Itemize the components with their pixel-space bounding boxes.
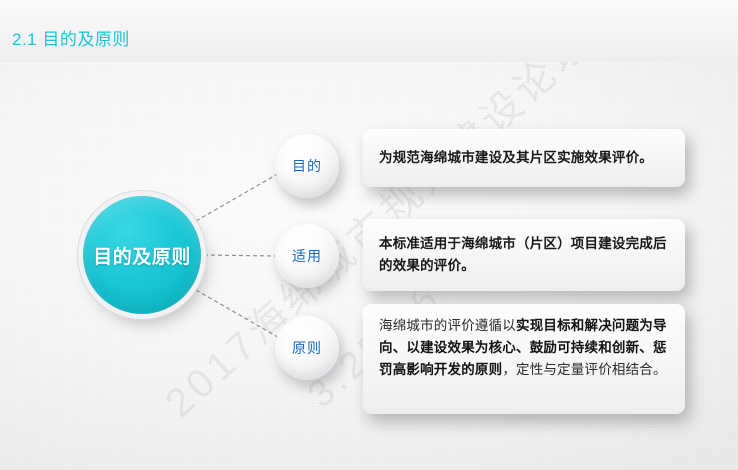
content-box-purpose: 为规范海绵城市建设及其片区实施效果评价。 [363,129,685,187]
title-bar: 2.1 目的及原则 [0,0,738,62]
slide-canvas: 2017海绵城市规划建设论坛 3.25-26 2.1 目的及原则 目的及原则 目… [0,0,738,470]
content-box-text: 海绵城市的评价遵循以实现目标和解决问题为导向、以建设效果为核心、鼓励可持续和创新… [379,315,671,381]
connector-to-node-2 [204,255,277,256]
content-box-principle: 海绵城市的评价遵循以实现目标和解决问题为导向、以建设效果为核心、鼓励可持续和创新… [363,304,685,414]
connector-to-node-1 [196,172,281,221]
branch-node-label: 目的 [292,156,322,176]
root-node[interactable]: 目的及原则 [83,196,201,314]
connector-to-node-3 [196,290,283,340]
root-node-label: 目的及原则 [93,242,191,269]
branch-node-label: 适用 [292,246,322,266]
content-box-text: 本标准适用于海绵城市（片区）项目建设完成后的效果的评价。 [379,233,671,277]
branch-node-principle[interactable]: 原则 [275,316,339,380]
branch-node-scope[interactable]: 适用 [275,224,339,288]
branch-node-purpose[interactable]: 目的 [275,134,339,198]
content-box-text: 为规范海绵城市建设及其片区实施效果评价。 [379,147,653,169]
content-box-scope: 本标准适用于海绵城市（片区）项目建设完成后的效果的评价。 [363,219,685,291]
branch-node-label: 原则 [292,338,322,358]
page-title: 2.1 目的及原则 [12,25,130,50]
